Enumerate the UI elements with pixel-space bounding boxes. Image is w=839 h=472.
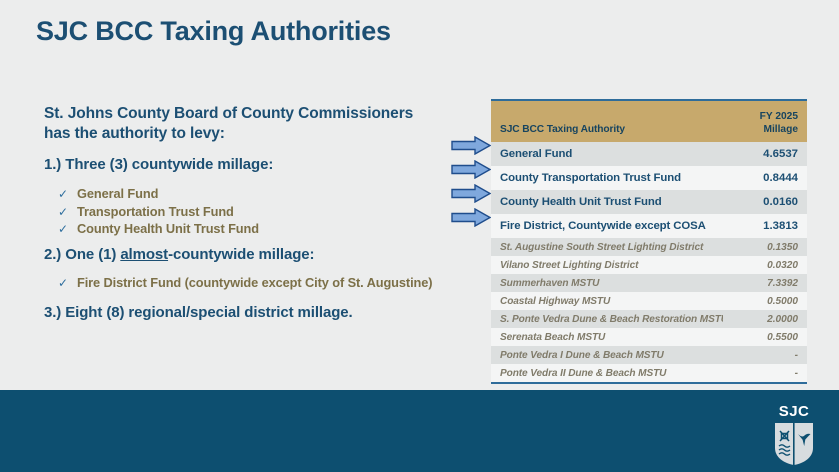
table-row: St. Augustine South Street Lighting Dist… bbox=[491, 238, 807, 256]
column-header-authority: SJC BCC Taxing Authority bbox=[491, 100, 723, 142]
list-item-label: General Fund bbox=[77, 185, 158, 203]
cell-authority: Summerhaven MSTU bbox=[491, 274, 723, 292]
cell-authority: Fire District, Countywide except COSA bbox=[491, 214, 723, 238]
list-item: ✓ General Fund bbox=[58, 185, 259, 203]
cell-authority: County Transportation Trust Fund bbox=[491, 166, 723, 190]
cell-authority: St. Augustine South Street Lighting Dist… bbox=[491, 238, 723, 256]
cell-millage: 0.5500 bbox=[723, 328, 807, 346]
list-item-label: County Health Unit Trust Fund bbox=[77, 220, 259, 238]
cell-millage: 2.0000 bbox=[723, 310, 807, 328]
cell-millage: 0.0320 bbox=[723, 256, 807, 274]
cell-authority: Serenata Beach MSTU bbox=[491, 328, 723, 346]
cell-authority: County Health Unit Trust Fund bbox=[491, 190, 723, 214]
check-icon: ✓ bbox=[58, 186, 77, 203]
arrow-right-icon bbox=[451, 160, 491, 179]
sjc-logo: SJC bbox=[767, 404, 821, 466]
table-row: County Transportation Trust Fund 0.8444 bbox=[491, 166, 807, 190]
lead-line-2: has the authority to levy: bbox=[44, 125, 225, 142]
column-header-millage: FY 2025 Millage bbox=[723, 100, 807, 142]
cell-millage: 0.8444 bbox=[723, 166, 807, 190]
list-item: ✓ Fire District Fund (countywide except … bbox=[58, 274, 432, 292]
cell-millage: 4.6537 bbox=[723, 142, 807, 166]
arrow-right-icon bbox=[451, 184, 491, 203]
table-row: Summerhaven MSTU 7.3392 bbox=[491, 274, 807, 292]
check-icon: ✓ bbox=[58, 204, 77, 221]
left-content-column: St. Johns County Board of County Commiss… bbox=[44, 104, 444, 145]
table-row: County Health Unit Trust Fund 0.0160 bbox=[491, 190, 807, 214]
list-item: ✓ Transportation Trust Fund bbox=[58, 203, 259, 221]
lead-line-1: St. Johns County Board of County Commiss… bbox=[44, 105, 413, 122]
table-row: Ponte Vedra II Dune & Beach MSTU - bbox=[491, 364, 807, 383]
table-row: S. Ponte Vedra Dune & Beach Restoration … bbox=[491, 310, 807, 328]
check-icon: ✓ bbox=[58, 221, 77, 238]
arrow-right-icon bbox=[451, 208, 491, 227]
sjc-shield-logo-icon bbox=[767, 422, 821, 466]
table-header-row: SJC BCC Taxing Authority FY 2025 Millage bbox=[491, 100, 807, 142]
list-item-almost-countywide-heading: 2.) One (1) almost-countywide millage: bbox=[44, 246, 314, 263]
table-row: Coastal Highway MSTU 0.5000 bbox=[491, 292, 807, 310]
cell-millage: 0.1350 bbox=[723, 238, 807, 256]
arrow-right-icon bbox=[451, 136, 491, 155]
table-body: General Fund 4.6537 County Transportatio… bbox=[491, 142, 807, 383]
table-row: Serenata Beach MSTU 0.5500 bbox=[491, 328, 807, 346]
list-item-label: Fire District Fund (countywide except Ci… bbox=[77, 274, 432, 292]
page-title: SJC BCC Taxing Authorities bbox=[36, 16, 391, 47]
cell-authority: General Fund bbox=[491, 142, 723, 166]
cell-authority: S. Ponte Vedra Dune & Beach Restoration … bbox=[491, 310, 723, 328]
table-row: Vilano Street Lighting District 0.0320 bbox=[491, 256, 807, 274]
column-header-millage-label: Millage bbox=[723, 123, 798, 136]
list-item-label: Transportation Trust Fund bbox=[77, 203, 234, 221]
countywide-millage-list: ✓ General Fund ✓ Transportation Trust Fu… bbox=[58, 185, 259, 238]
check-icon: ✓ bbox=[58, 275, 77, 292]
table-header: SJC BCC Taxing Authority FY 2025 Millage bbox=[491, 100, 807, 142]
almost-countywide-millage-list: ✓ Fire District Fund (countywide except … bbox=[58, 274, 432, 292]
cell-authority: Ponte Vedra II Dune & Beach MSTU bbox=[491, 364, 723, 383]
list-item: ✓ County Health Unit Trust Fund bbox=[58, 220, 259, 238]
list-item-regional-heading: 3.) Eight (8) regional/special district … bbox=[44, 304, 353, 321]
cell-millage: 0.0160 bbox=[723, 190, 807, 214]
cell-authority: Coastal Highway MSTU bbox=[491, 292, 723, 310]
cell-millage: - bbox=[723, 364, 807, 383]
cell-authority: Ponte Vedra I Dune & Beach MSTU bbox=[491, 346, 723, 364]
millage-table: SJC BCC Taxing Authority FY 2025 Millage… bbox=[491, 99, 807, 384]
list-item-countywide-heading: 1.) Three (3) countywide millage: bbox=[44, 156, 273, 173]
cell-millage: 0.5000 bbox=[723, 292, 807, 310]
cell-authority: Vilano Street Lighting District bbox=[491, 256, 723, 274]
item2-suffix: -countywide millage: bbox=[168, 246, 314, 263]
item2-prefix: 2.) One (1) bbox=[44, 246, 120, 263]
cell-millage: 1.3813 bbox=[723, 214, 807, 238]
slide-canvas: SJC BCC Taxing Authorities St. Johns Cou… bbox=[0, 0, 839, 472]
table-row: Ponte Vedra I Dune & Beach MSTU - bbox=[491, 346, 807, 364]
column-header-millage-year: FY 2025 bbox=[723, 110, 798, 123]
lead-statement: St. Johns County Board of County Commiss… bbox=[44, 104, 444, 145]
table-row: General Fund 4.6537 bbox=[491, 142, 807, 166]
footer-bar: SJC bbox=[0, 390, 839, 472]
millage-table-container: SJC BCC Taxing Authority FY 2025 Millage… bbox=[491, 99, 807, 384]
cell-millage: - bbox=[723, 346, 807, 364]
item2-emphasis: almost bbox=[120, 246, 168, 263]
cell-millage: 7.3392 bbox=[723, 274, 807, 292]
table-row: Fire District, Countywide except COSA 1.… bbox=[491, 214, 807, 238]
logo-text: SJC bbox=[767, 404, 821, 419]
